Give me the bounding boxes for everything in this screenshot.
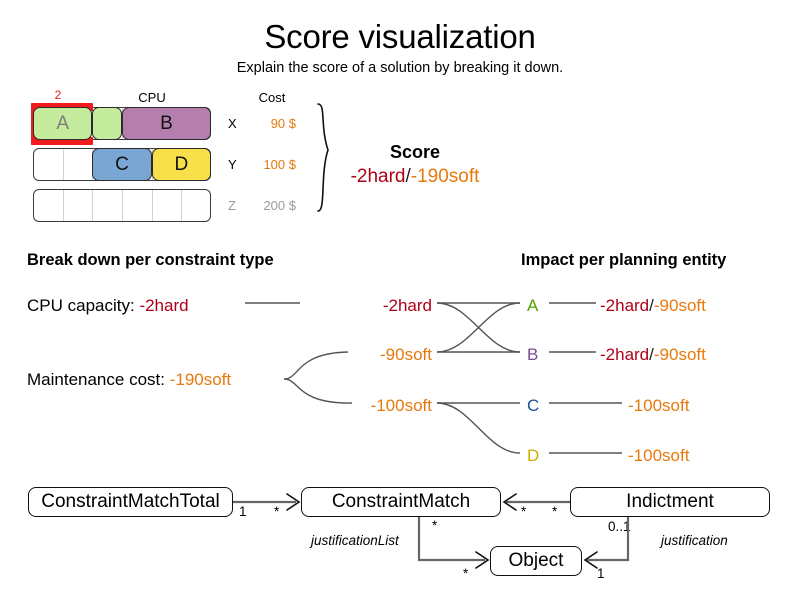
uml-multiplicity-6: * — [463, 566, 468, 581]
machine-cell — [34, 149, 64, 180]
machine-cell — [64, 149, 94, 180]
page-subtitle: Explain the score of a solution by break… — [0, 60, 800, 76]
score-hard-value: -2hard — [351, 166, 406, 187]
constraint-name: CPU capacity: — [27, 296, 139, 315]
entity-label-d: D — [527, 446, 539, 466]
uml-multiplicity-7: 1 — [597, 566, 605, 581]
uml-role-justification: justification — [661, 533, 728, 548]
uml-multiplicity-3: * — [552, 504, 557, 519]
process-box-b[interactable]: B — [122, 107, 211, 140]
page-title: Score visualization — [0, 18, 800, 56]
constraint-value: -190soft — [170, 370, 231, 389]
constraint-match-node-1: -90soft — [300, 345, 432, 365]
machine-cell — [153, 190, 183, 221]
process-box-d[interactable]: D — [152, 148, 211, 181]
machine-cost-value: 100 $ — [240, 157, 296, 172]
entity-label-a: A — [527, 296, 538, 316]
breakdown-left-heading: Break down per constraint type — [27, 251, 274, 270]
machine-name-label: Y — [228, 157, 237, 172]
uml-multiplicity-2: * — [521, 504, 526, 519]
machine-cell — [123, 190, 153, 221]
constraint-value: -2hard — [139, 296, 188, 315]
uml-multiplicity-0: 1 — [239, 504, 247, 519]
cost-column-header: Cost — [232, 90, 312, 105]
impact-soft: -100soft — [628, 446, 689, 465]
constraint-match-node-2: -100soft — [290, 396, 432, 416]
constraint-row-cpu-capacity: CPU capacity: -2hard — [27, 296, 189, 316]
machine-cost-value: 90 $ — [240, 116, 296, 131]
machine-cell — [93, 190, 123, 221]
uml-box-indictment[interactable]: Indictment — [570, 487, 770, 517]
impact-hard: -2hard — [600, 345, 649, 364]
entity-label-c: C — [527, 396, 539, 416]
process-box-c[interactable]: C — [92, 148, 151, 181]
process-box-a[interactable]: A — [33, 107, 92, 140]
machine-cell — [34, 190, 64, 221]
uml-multiplicity-4: * — [432, 518, 437, 533]
impact-soft: -100soft — [628, 396, 689, 415]
entity-impact-d: -100soft — [628, 446, 689, 466]
impact-soft: -90soft — [654, 296, 706, 315]
process-box-unlabeled[interactable] — [92, 107, 122, 140]
machine-cell — [64, 190, 94, 221]
score-visualization-page: Score visualization Explain the score of… — [0, 0, 800, 600]
score-heading: Score — [330, 142, 500, 163]
score-soft-value: -190soft — [411, 166, 480, 187]
uml-box-object[interactable]: Object — [490, 546, 582, 576]
machine-name-label: X — [228, 116, 237, 131]
constraint-name: Maintenance cost: — [27, 370, 170, 389]
entity-impact-c: -100soft — [628, 396, 689, 416]
machine-cost-value: 200 $ — [240, 198, 296, 213]
cpu-column-header: CPU — [112, 90, 192, 105]
uml-role-justificationlist: justificationList — [311, 533, 399, 548]
uml-multiplicity-1: * — [274, 504, 279, 519]
impact-soft: -90soft — [654, 345, 706, 364]
entity-impact-b: -2hard/-90soft — [600, 345, 706, 365]
impact-hard: -2hard — [600, 296, 649, 315]
overload-count-label: 2 — [28, 88, 88, 102]
machine-name-label: Z — [228, 198, 236, 213]
machine-cell — [182, 190, 211, 221]
constraint-row-maintenance-cost: Maintenance cost: -190soft — [27, 370, 231, 390]
uml-box-constraintmatchtotal[interactable]: ConstraintMatchTotal — [28, 487, 233, 517]
machine-row[interactable] — [33, 189, 211, 222]
uml-box-constraintmatch[interactable]: ConstraintMatch — [301, 487, 501, 517]
entity-label-b: B — [527, 345, 538, 365]
constraint-match-node-0: -2hard — [300, 296, 432, 316]
entity-impact-a: -2hard/-90soft — [600, 296, 706, 316]
breakdown-right-heading: Impact per planning entity — [521, 251, 726, 270]
uml-multiplicity-5: 0..1 — [608, 519, 631, 534]
score-value: -2hard/-190soft — [330, 166, 500, 188]
